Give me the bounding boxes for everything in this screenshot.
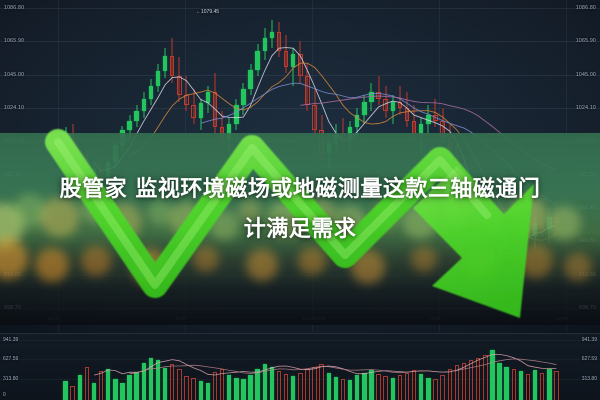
headline-line-2: 计满足需求 <box>0 210 600 250</box>
stock-chart-banner: 1086.801086.801065.901065.901045.001045.… <box>0 0 600 400</box>
headline: 股管家 监视环境磁场或地磁测量这款三轴磁通门 计满足需求 <box>0 170 600 250</box>
headline-line-1: 股管家 监视环境磁场或地磁测量这款三轴磁通门 <box>0 170 600 210</box>
